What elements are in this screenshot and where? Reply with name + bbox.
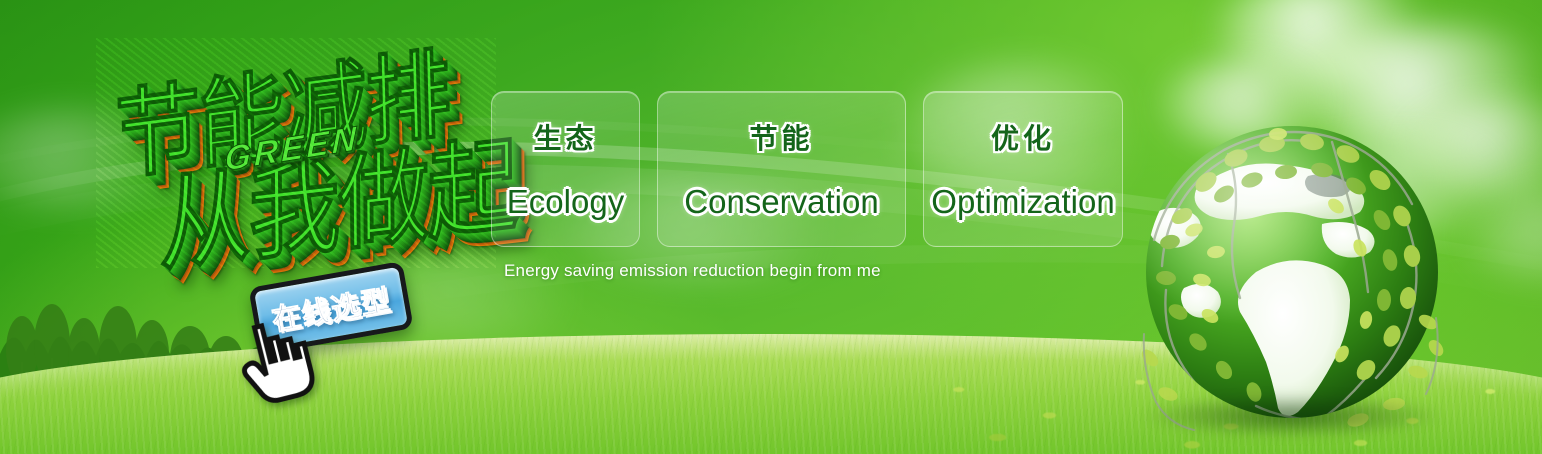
- feature-card-en-label: Conservation: [684, 183, 878, 221]
- feature-card-cn-label: 节能: [749, 117, 813, 157]
- eco-hero-banner: 节能减排 从我做起 GREEN 在线选型: [0, 0, 1542, 454]
- feature-card-cn-label: 生态: [533, 117, 597, 157]
- leafy-globe: [1136, 120, 1448, 432]
- feature-card-ecology[interactable]: 生态 Ecology: [491, 91, 640, 247]
- globe-shadow: [1142, 394, 1442, 438]
- feature-card-optimization[interactable]: 优化 Optimization: [923, 91, 1123, 247]
- feature-card-list: 生态 Ecology 节能 Conservation 优化 Optimizati…: [491, 91, 1123, 247]
- feature-card-cn-label: 优化: [991, 117, 1055, 157]
- feature-card-en-label: Optimization: [931, 183, 1114, 221]
- headline-3d-artwork: 节能减排 从我做起 GREEN: [96, 38, 496, 268]
- feature-card-conservation[interactable]: 节能 Conservation: [657, 91, 906, 247]
- banner-tagline: Energy saving emission reduction begin f…: [504, 261, 881, 281]
- feature-card-en-label: Ecology: [507, 183, 624, 221]
- leafy-green-globe-icon: [1136, 120, 1448, 432]
